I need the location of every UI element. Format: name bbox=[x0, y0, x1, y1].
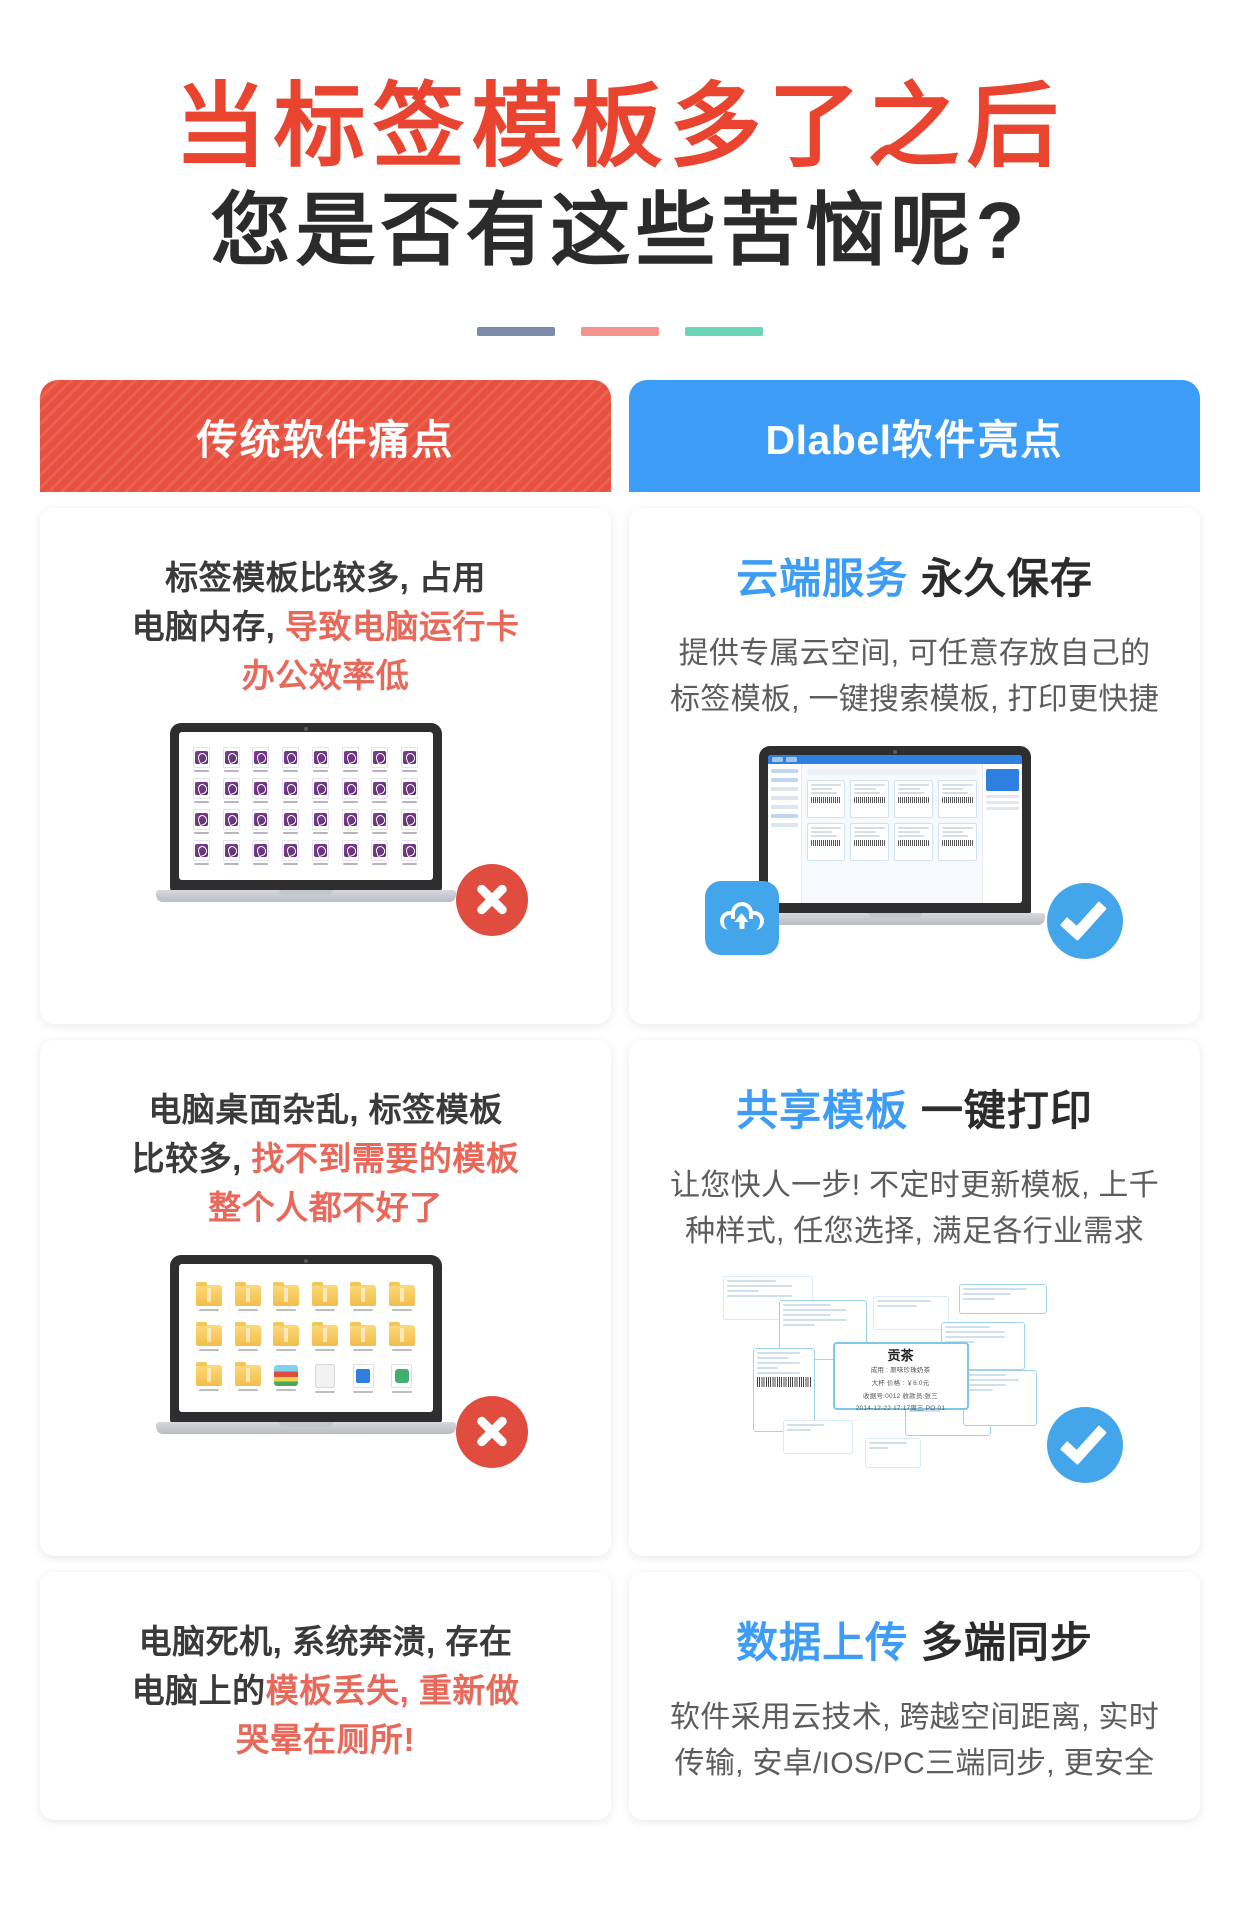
collage-main-label-line-4: 2014-12-22 17:17周三 PO 01 bbox=[841, 1404, 961, 1414]
template-file-icon bbox=[308, 808, 334, 835]
template-file-icon bbox=[248, 746, 274, 773]
app-titlebar bbox=[768, 755, 1022, 764]
template-file-icon bbox=[278, 746, 304, 773]
template-file-icon bbox=[218, 839, 244, 866]
cloud-upload-icon bbox=[705, 881, 779, 955]
pain-card-1-highlight-1: 导致电脑运行卡 bbox=[285, 608, 520, 645]
template-file-icon bbox=[308, 777, 334, 804]
brand-name: Dlabel bbox=[765, 417, 891, 463]
laptop-screen bbox=[179, 732, 433, 880]
template-file-icon bbox=[218, 808, 244, 835]
collage-main-label: 贡茶 成用 : 原味珍珠奶茶 大杯 价格 : ￥6.0元 收据号:0012 收款… bbox=[833, 1342, 969, 1410]
bright-card-3[interactable]: 数据上传 多端同步 软件采用云技术, 跨越空间距离, 实时 传输, 安卓/IOS… bbox=[629, 1572, 1200, 1820]
divider-row bbox=[0, 327, 1240, 336]
template-thumbnail bbox=[850, 780, 889, 818]
template-file-icon bbox=[337, 746, 363, 773]
cloud-glyph bbox=[720, 902, 764, 934]
template-file-icon bbox=[278, 808, 304, 835]
template-thumbnail bbox=[807, 780, 846, 818]
collage-label bbox=[959, 1284, 1047, 1314]
pain-card-1-lead: 标签模板比较多, 占用 bbox=[165, 559, 486, 596]
template-file-icon bbox=[189, 839, 215, 866]
bright-card-3-body-line-2: 传输, 安卓/IOS/PC三端同步, 更安全 bbox=[675, 1747, 1155, 1780]
folder-icon-grid bbox=[179, 1264, 433, 1412]
bright-card-2-body: 让您快人一步! 不定时更新模板, 上千 种样式, 任您选择, 满足各行业需求 bbox=[659, 1163, 1170, 1256]
folder-icon bbox=[193, 1280, 227, 1315]
template-file-icon bbox=[278, 839, 304, 866]
label-software-ui bbox=[768, 755, 1022, 903]
bright-card-2-title-accent: 共享模板 bbox=[736, 1087, 908, 1134]
pain-card-3-lead: 电脑死机, 系统奔溃, 存在 bbox=[139, 1623, 513, 1660]
bright-card-2[interactable]: 共享模板 一键打印 让您快人一步! 不定时更新模板, 上千 种样式, 任您选择,… bbox=[629, 1040, 1200, 1556]
hero-section: 当标签模板多了之后 您是否有这些苦恼呢? bbox=[0, 0, 1240, 336]
folder-icon bbox=[193, 1361, 227, 1396]
bright-card-2-title: 共享模板 一键打印 bbox=[659, 1086, 1170, 1136]
column-pain-points: 传统软件痛点 标签模板比较多, 占用 电脑内存, 导致电脑运行卡 办公效率低 bbox=[40, 380, 611, 1820]
pain-card-1-text: 标签模板比较多, 占用 电脑内存, 导致电脑运行卡 办公效率低 bbox=[70, 554, 581, 700]
divider-bar-slate bbox=[477, 327, 555, 336]
bright-card-3-title-accent: 数据上传 bbox=[736, 1619, 908, 1666]
folder-icon bbox=[385, 1280, 419, 1315]
laptop-icon bbox=[156, 1255, 456, 1445]
folder-icon bbox=[231, 1280, 265, 1315]
column-header-bright-suffix: 软件亮点 bbox=[892, 417, 1064, 463]
pain-card-2-highlight-2: 整个人都不好了 bbox=[208, 1189, 443, 1226]
folder-icon bbox=[347, 1320, 381, 1355]
collage-main-label-line-1: 成用 : 原味珍珠奶茶 bbox=[841, 1366, 961, 1376]
template-file-icon bbox=[367, 808, 393, 835]
laptop-notch bbox=[279, 1422, 333, 1427]
template-file-icon bbox=[397, 839, 423, 866]
app-body bbox=[768, 764, 1022, 903]
app-template-area bbox=[802, 764, 982, 903]
template-file-icon bbox=[367, 746, 393, 773]
webcam-icon bbox=[304, 727, 308, 731]
laptop-icon bbox=[745, 746, 1045, 936]
template-file-icon bbox=[367, 839, 393, 866]
template-thumbnail bbox=[894, 780, 933, 818]
pain-card-3[interactable]: 电脑死机, 系统奔溃, 存在 电脑上的模板丢失, 重新做 哭晕在厕所! bbox=[40, 1572, 611, 1820]
column-header-bright: Dlabel软件亮点 bbox=[629, 380, 1200, 492]
pain-card-2-lead: 电脑桌面杂乱, 标签模板 bbox=[148, 1091, 502, 1128]
laptop-screen bbox=[768, 755, 1022, 903]
comparison-columns: 传统软件痛点 标签模板比较多, 占用 电脑内存, 导致电脑运行卡 办公效率低 bbox=[0, 380, 1240, 1820]
app-template-tiles bbox=[807, 780, 977, 861]
bright-card-1-body-line-2: 标签模板, 一键搜索模板, 打印更快捷 bbox=[670, 683, 1159, 716]
divider-bar-mint bbox=[685, 327, 763, 336]
template-thumbnail bbox=[938, 823, 977, 861]
template-file-icon bbox=[248, 808, 274, 835]
template-file-icon bbox=[308, 746, 334, 773]
checkmark-glyph bbox=[1059, 1416, 1106, 1465]
laptop-notch bbox=[868, 913, 922, 918]
folder-icon bbox=[308, 1320, 342, 1355]
folder-icon bbox=[347, 1280, 381, 1315]
bright-card-3-title-plain: 多端同步 bbox=[921, 1619, 1093, 1666]
folder-icon bbox=[385, 1320, 419, 1355]
template-file-icon bbox=[337, 839, 363, 866]
laptop-folder-desktop-illustration bbox=[116, 1255, 536, 1470]
column-header-pain-label: 传统软件痛点 bbox=[197, 406, 455, 466]
template-file-icon bbox=[337, 808, 363, 835]
laptop-icon bbox=[156, 723, 456, 913]
document-icon bbox=[308, 1361, 342, 1396]
column-highlights: Dlabel软件亮点 云端服务 永久保存 提供专属云空间, 可任意存放自己的 标… bbox=[629, 380, 1200, 1820]
collage-label bbox=[873, 1296, 949, 1330]
divider-bar-coral bbox=[581, 327, 659, 336]
webcam-icon bbox=[304, 1259, 308, 1263]
template-file-icon bbox=[278, 777, 304, 804]
collage-label bbox=[865, 1438, 921, 1468]
template-file-icon bbox=[189, 746, 215, 773]
pain-card-1-mid: 电脑内存, bbox=[132, 608, 285, 645]
template-file-icon bbox=[308, 839, 334, 866]
collage-main-label-line-3: 收据号:0012 收款员:张三 bbox=[841, 1392, 961, 1402]
bright-card-2-title-plain: 一键打印 bbox=[921, 1087, 1093, 1134]
laptop-lid bbox=[759, 746, 1031, 914]
pain-card-2-text: 电脑桌面杂乱, 标签模板 比较多, 找不到需要的模板 整个人都不好了 bbox=[70, 1086, 581, 1232]
laptop-lid bbox=[170, 723, 442, 891]
column-header-bright-label: Dlabel软件亮点 bbox=[765, 406, 1063, 466]
template-thumbnail bbox=[894, 823, 933, 861]
template-file-icon bbox=[248, 777, 274, 804]
laptop-lid bbox=[170, 1255, 442, 1423]
pain-card-1-highlight-2: 办公效率低 bbox=[242, 657, 410, 694]
bright-card-2-body-line-1: 让您快人一步! 不定时更新模板, 上千 bbox=[670, 1169, 1159, 1202]
app-right-rail bbox=[982, 764, 1022, 903]
x-badge-icon bbox=[456, 864, 528, 936]
pain-card-3-text: 电脑死机, 系统奔溃, 存在 电脑上的模板丢失, 重新做 哭晕在厕所! bbox=[70, 1618, 581, 1764]
bright-card-1-title-plain: 永久保存 bbox=[921, 555, 1093, 602]
pain-card-3-highlight-2: 哭晕在厕所! bbox=[236, 1721, 415, 1758]
laptop-cloud-app-illustration bbox=[705, 746, 1125, 961]
folder-icon bbox=[270, 1320, 304, 1355]
template-icon-grid bbox=[179, 732, 433, 880]
folder-icon bbox=[270, 1280, 304, 1315]
folder-icon bbox=[231, 1361, 265, 1396]
template-thumbnail bbox=[850, 823, 889, 861]
x-badge-icon bbox=[456, 1396, 528, 1468]
collage-main-label-line-2: 大杯 价格 : ￥6.0元 bbox=[841, 1379, 961, 1389]
collage-label bbox=[963, 1370, 1037, 1426]
hero-headline-secondary: 您是否有这些苦恼呢? bbox=[0, 183, 1240, 279]
bright-card-3-body-line-1: 软件采用云技术, 跨越空间距离, 实时 bbox=[670, 1701, 1159, 1734]
bright-card-1-title-accent: 云端服务 bbox=[736, 555, 908, 602]
pain-card-stack: 标签模板比较多, 占用 电脑内存, 导致电脑运行卡 办公效率低 bbox=[40, 508, 611, 1820]
pain-card-2-mid: 比较多, bbox=[132, 1140, 252, 1177]
app-file-icon-green bbox=[385, 1361, 419, 1396]
barcode-glyph bbox=[757, 1377, 811, 1387]
template-file-icon bbox=[367, 777, 393, 804]
pain-card-3-mid: 电脑上的 bbox=[132, 1672, 266, 1709]
collage-label bbox=[783, 1420, 853, 1454]
webcam-icon bbox=[893, 750, 897, 754]
app-rail-highlight bbox=[986, 769, 1019, 791]
pain-card-2-highlight-1: 找不到需要的模板 bbox=[251, 1140, 519, 1177]
template-file-icon bbox=[189, 777, 215, 804]
laptop-notch bbox=[279, 890, 333, 895]
app-toolbar bbox=[807, 769, 977, 775]
laptop-screen bbox=[179, 1264, 433, 1412]
bright-card-3-body: 软件采用云技术, 跨越空间距离, 实时 传输, 安卓/IOS/PC三端同步, 更… bbox=[659, 1695, 1170, 1788]
hero-headline-primary: 当标签模板多了之后 bbox=[0, 78, 1240, 177]
check-badge-icon bbox=[1047, 1407, 1123, 1483]
folder-icon bbox=[231, 1320, 265, 1355]
archive-icon bbox=[270, 1361, 304, 1396]
bright-card-2-body-line-2: 种样式, 任您选择, 满足各行业需求 bbox=[685, 1215, 1144, 1248]
bright-card-stack: 云端服务 永久保存 提供专属云空间, 可任意存放自己的 标签模板, 一键搜索模板… bbox=[629, 508, 1200, 1820]
bright-card-1-body: 提供专属云空间, 可任意存放自己的 标签模板, 一键搜索模板, 打印更快捷 bbox=[659, 631, 1170, 724]
template-file-icon bbox=[218, 746, 244, 773]
bright-card-1-title: 云端服务 永久保存 bbox=[659, 554, 1170, 604]
checkmark-glyph bbox=[1059, 892, 1106, 941]
pain-card-3-highlight-1: 模板丢失, 重新做 bbox=[266, 1672, 520, 1709]
template-file-icon bbox=[397, 746, 423, 773]
template-file-icon bbox=[397, 808, 423, 835]
folder-icon bbox=[308, 1280, 342, 1315]
check-badge-icon bbox=[1047, 883, 1123, 959]
pain-card-2[interactable]: 电脑桌面杂乱, 标签模板 比较多, 找不到需要的模板 整个人都不好了 bbox=[40, 1040, 611, 1556]
bright-card-1[interactable]: 云端服务 永久保存 提供专属云空间, 可任意存放自己的 标签模板, 一键搜索模板… bbox=[629, 508, 1200, 1024]
template-file-icon bbox=[189, 808, 215, 835]
template-file-icon bbox=[337, 777, 363, 804]
template-file-icon bbox=[248, 839, 274, 866]
column-header-pain: 传统软件痛点 bbox=[40, 380, 611, 492]
collage-main-label-title: 贡茶 bbox=[841, 1349, 961, 1363]
page-root: 当标签模板多了之后 您是否有这些苦恼呢? 传统软件痛点 标签模板比较多, 占用 … bbox=[0, 0, 1240, 1920]
template-thumbnail bbox=[938, 780, 977, 818]
label-collage-illustration: 贡茶 成用 : 原味珍珠奶茶 大杯 价格 : ￥6.0元 收据号:0012 收款… bbox=[705, 1270, 1125, 1485]
template-file-icon bbox=[218, 777, 244, 804]
laptop-template-grid-illustration bbox=[116, 723, 536, 938]
app-sidebar bbox=[768, 764, 802, 903]
app-file-icon-blue bbox=[347, 1361, 381, 1396]
pain-card-1[interactable]: 标签模板比较多, 占用 电脑内存, 导致电脑运行卡 办公效率低 bbox=[40, 508, 611, 1024]
folder-icon bbox=[193, 1320, 227, 1355]
bright-card-3-title: 数据上传 多端同步 bbox=[659, 1618, 1170, 1668]
template-file-icon bbox=[397, 777, 423, 804]
bright-card-1-body-line-1: 提供专属云空间, 可任意存放自己的 bbox=[679, 637, 1151, 670]
template-thumbnail bbox=[807, 823, 846, 861]
